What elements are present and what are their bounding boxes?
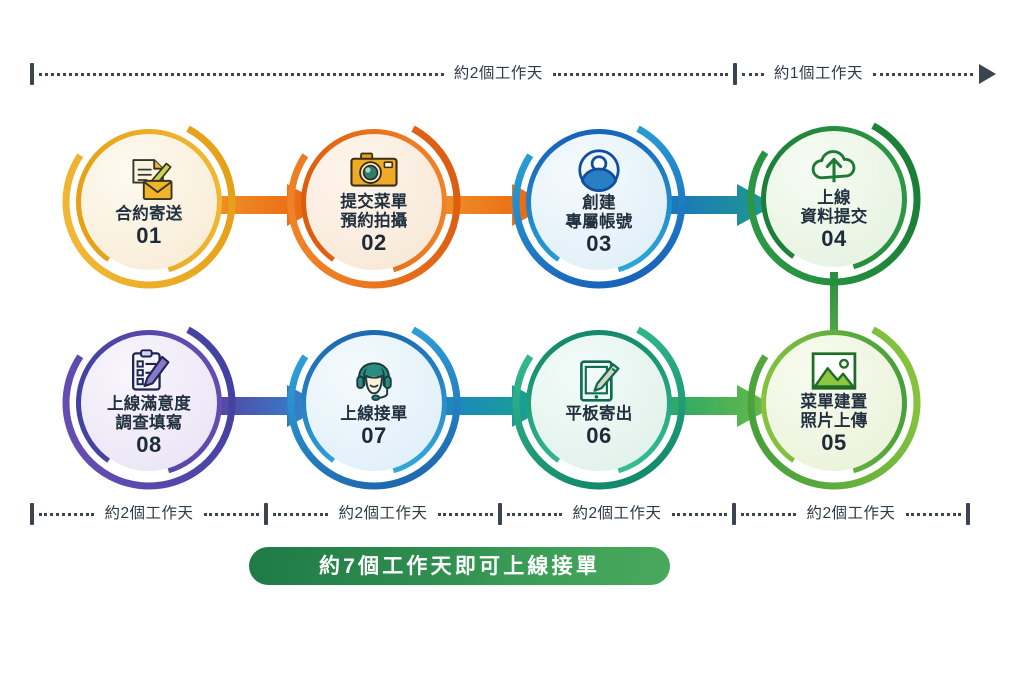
step-title-08: 上線滿意度 調查填寫 <box>107 395 191 432</box>
rail-tick-2 <box>498 503 502 525</box>
step-title-02: 提交菜單 預約拍攝 <box>340 193 407 230</box>
rail-dash <box>39 513 94 516</box>
rail-arrowhead-icon <box>979 64 996 84</box>
step-node-05[interactable]: 菜單建置 照片上傳 05 <box>745 314 923 492</box>
step-title-06: 平板寄出 <box>565 405 632 423</box>
step-number-03: 03 <box>586 232 611 255</box>
step-number-02: 02 <box>361 231 386 254</box>
rail-dash <box>906 513 961 516</box>
top-timeline-rail: 約2個工作天 約1個工作天 <box>30 63 996 85</box>
step-core-02: 提交菜單 預約拍攝 02 <box>306 134 442 270</box>
headset-agent-icon <box>348 359 400 403</box>
bottom-rail-label-4: 約2個工作天 <box>801 506 900 522</box>
survey-clipboard-icon <box>123 349 175 393</box>
step-node-01[interactable]: 合約寄送 01 <box>60 113 238 291</box>
rail-dash <box>39 73 444 76</box>
top-rail-label-1: 約2個工作天 <box>449 66 548 82</box>
rail-tick-3 <box>732 503 736 525</box>
bottom-rail-label-2: 約2個工作天 <box>333 506 432 522</box>
photo-image-icon <box>808 351 860 391</box>
step-core-01: 合約寄送 01 <box>81 134 217 270</box>
step-title-01: 合約寄送 <box>115 205 182 223</box>
rail-dash <box>204 513 259 516</box>
summary-banner-text: 約7個工作天即可上線接單 <box>319 556 600 577</box>
rail-dash <box>742 73 764 76</box>
step-node-07[interactable]: 上線接單 07 <box>285 314 463 492</box>
cloud-upload-icon <box>808 147 860 187</box>
step-title-03: 創建 專屬帳號 <box>565 194 632 231</box>
step-number-06: 06 <box>586 424 611 447</box>
step-node-04[interactable]: 上線 資料提交 04 <box>745 110 923 288</box>
step-node-03[interactable]: 創建 專屬帳號 03 <box>510 113 688 291</box>
step-core-08: 上線滿意度 調查填寫 08 <box>81 335 217 471</box>
step-node-06[interactable]: 平板寄出 06 <box>510 314 688 492</box>
bottom-timeline-rail: 約2個工作天 約2個工作天 約2個工作天 約2個工作天 <box>30 503 970 525</box>
summary-banner: 約7個工作天即可上線接單 <box>249 547 670 585</box>
rail-dash <box>553 73 728 76</box>
rail-dash <box>507 513 562 516</box>
step-core-06: 平板寄出 06 <box>531 335 667 471</box>
step-number-01: 01 <box>136 224 161 247</box>
user-account-icon <box>573 148 625 192</box>
rail-dash <box>741 513 796 516</box>
rail-tick-1 <box>264 503 268 525</box>
rail-dash <box>273 513 328 516</box>
step-core-05: 菜單建置 照片上傳 05 <box>766 335 902 471</box>
rail-tick-start <box>30 503 34 525</box>
step-number-07: 07 <box>361 424 386 447</box>
rail-dash <box>438 513 493 516</box>
step-title-04: 上線 資料提交 <box>800 189 867 226</box>
rail-dash <box>873 73 973 76</box>
rail-tick-start <box>30 63 34 85</box>
step-title-05: 菜單建置 照片上傳 <box>800 393 867 430</box>
step-node-02[interactable]: 提交菜單 預約拍攝 02 <box>285 113 463 291</box>
infographic-canvas: 約2個工作天 約1個工作天 <box>0 0 1024 683</box>
bottom-rail-label-1: 約2個工作天 <box>99 506 198 522</box>
step-core-04: 上線 資料提交 04 <box>766 131 902 267</box>
step-number-08: 08 <box>136 433 161 456</box>
rail-tick-end <box>966 503 970 525</box>
step-title-07: 上線接單 <box>340 405 407 423</box>
tablet-edit-icon <box>573 359 625 403</box>
rail-dash <box>672 513 727 516</box>
bottom-rail-label-3: 約2個工作天 <box>567 506 666 522</box>
rail-tick-mid <box>733 63 737 85</box>
step-node-08[interactable]: 上線滿意度 調查填寫 08 <box>60 314 238 492</box>
contract-envelope-icon <box>123 157 175 203</box>
step-number-05: 05 <box>821 431 846 454</box>
step-core-03: 創建 專屬帳號 03 <box>531 134 667 270</box>
step-number-04: 04 <box>821 227 846 250</box>
step-core-07: 上線接單 07 <box>306 335 442 471</box>
camera-icon <box>348 149 400 191</box>
top-rail-label-2: 約1個工作天 <box>769 66 868 82</box>
